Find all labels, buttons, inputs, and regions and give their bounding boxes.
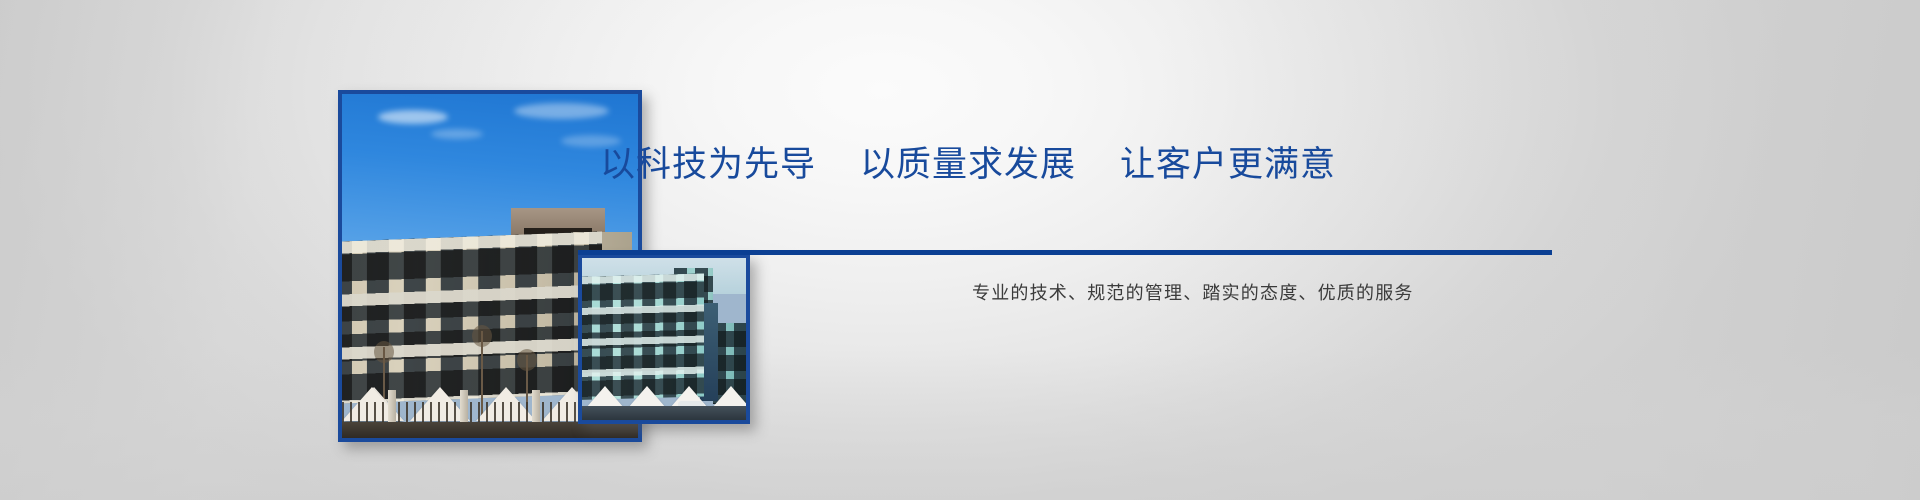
photo-small-scene [582, 258, 746, 420]
tent-canopy [712, 386, 746, 408]
background-floor-shadow [0, 350, 1920, 500]
tent-canopy [628, 386, 666, 408]
headline-segment-3: 让客户更满意 [1120, 145, 1336, 184]
building-main-facade [582, 274, 703, 401]
cloud-shape [378, 110, 448, 124]
headline-segment-1: 以科技为先导 [600, 145, 816, 184]
headline-divider [578, 250, 1552, 255]
hero-banner: 以科技为先导以质量求发展让客户更满意 专业的技术、规范的管理、踏实的态度、优质的… [0, 0, 1920, 500]
cloud-shape [431, 129, 483, 139]
office-building-photo-small [578, 254, 750, 424]
tent-canopy [586, 386, 624, 408]
floor-ledges [582, 274, 703, 401]
cloud-shape [514, 103, 609, 119]
headline-segment-2: 以质量求发展 [860, 145, 1076, 184]
banner-subtitle: 专业的技术、规范的管理、踏实的态度、优质的服务 [972, 279, 1414, 307]
ground-strip [342, 422, 638, 438]
banner-headline: 以科技为先导以质量求发展让客户更满意 [600, 142, 1336, 188]
ground-strip [582, 406, 746, 420]
